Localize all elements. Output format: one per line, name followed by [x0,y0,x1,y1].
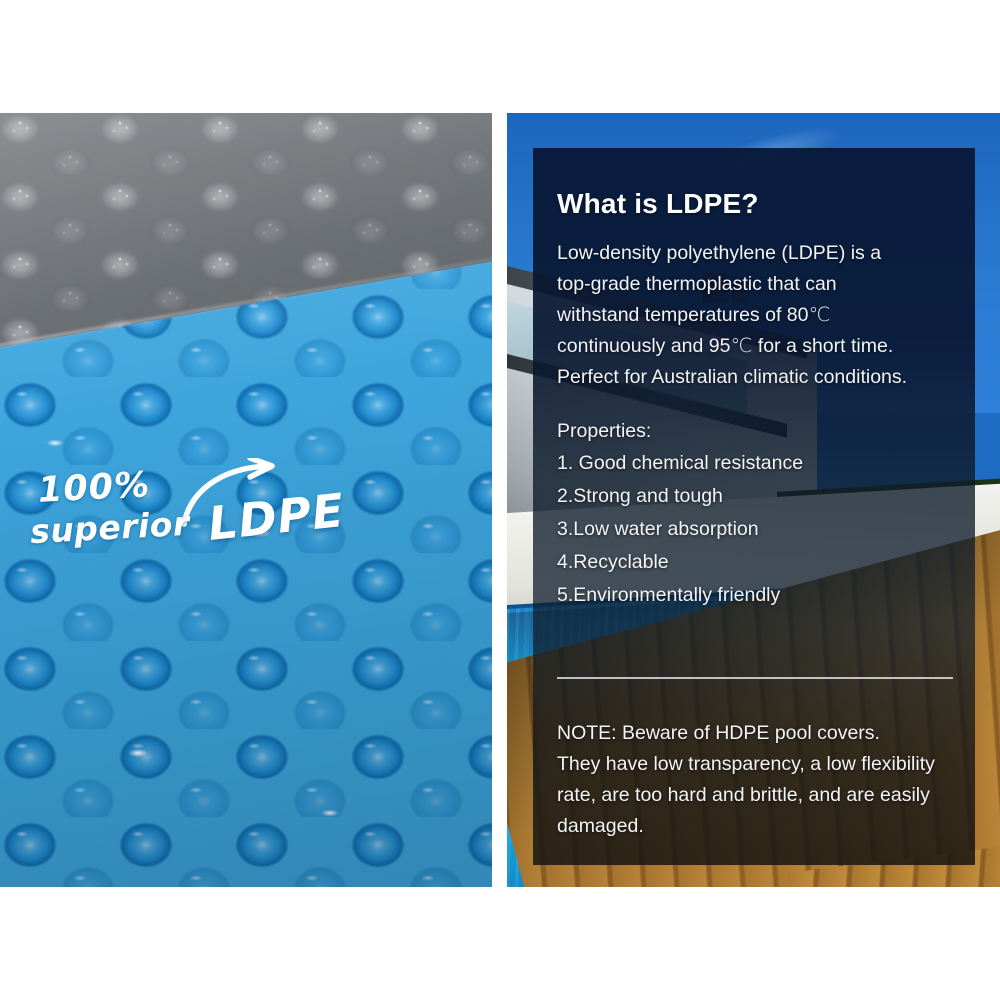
list-item: 1. Good chemical resistance [557,447,952,480]
list-item: 3.Low water absorption [557,513,952,546]
description-line: withstand temperatures of 80℃ [557,300,952,331]
description-line: top-grade thermoplastic that can [557,269,952,300]
ldpe-info-card: What is LDPE? Low-density polyethylene (… [533,148,975,865]
properties-list: 1. Good chemical resistance 2.Strong and… [557,447,952,612]
note-line: NOTE: Beware of HDPE pool covers. [557,718,957,749]
note-line: rate, are too hard and brittle, and are … [557,780,957,811]
properties-heading: Properties: [557,416,651,447]
list-item: 2.Strong and tough [557,480,952,513]
description-line: Low-density polyethylene (LDPE) is a [557,238,952,269]
note-line: damaged. [557,811,957,842]
list-item: 5.Environmentally friendly [557,579,952,612]
note-line: They have low transparency, a low flexib… [557,749,957,780]
section-divider [557,677,953,679]
card-title: What is LDPE? [557,188,759,220]
right-info-panel: What is LDPE? Low-density polyethylene (… [507,113,1000,887]
description-line: Perfect for Australian climatic conditio… [557,362,952,393]
left-product-image-panel: 100% superior LDPE [0,113,492,887]
list-item: 4.Recyclable [557,546,952,579]
card-description: Low-density polyethylene (LDPE) is a top… [557,238,952,393]
description-line: continuously and 95℃ for a short time. [557,331,952,362]
note-text: NOTE: Beware of HDPE pool covers. They h… [557,718,957,842]
product-infographic: 100% superior LDPE What is LDPE? Low-de [0,0,1000,1000]
